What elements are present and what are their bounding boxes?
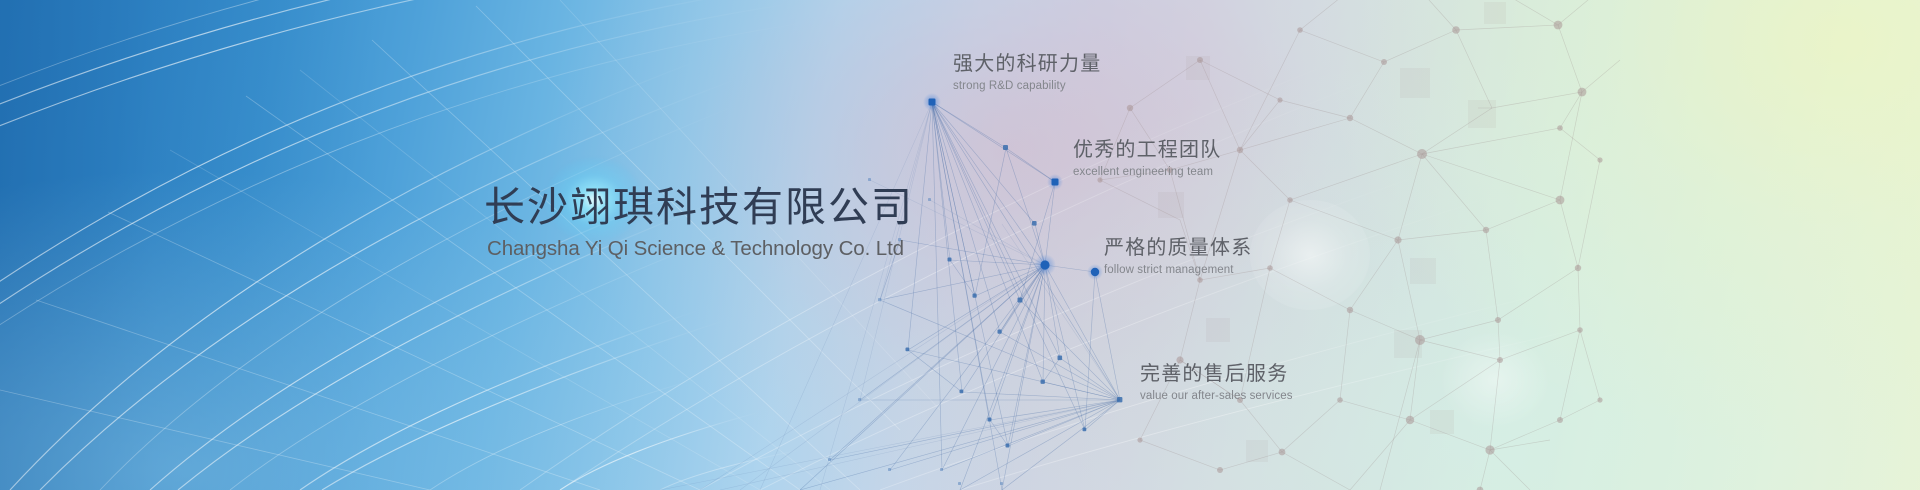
feature-quality-system-label-cn: 严格的质量体系 xyxy=(1104,236,1252,261)
feature-item-rnd: 强大的科研力量 strong R&D capability xyxy=(953,52,1101,92)
feature-rnd-label-cn: 强大的科研力量 xyxy=(953,52,1101,77)
feature-engineering-team-label-cn: 优秀的工程团队 xyxy=(1073,138,1221,163)
feature-after-sales-label-cn: 完善的售后服务 xyxy=(1140,362,1293,387)
feature-item-quality-system: 严格的质量体系 follow strict management xyxy=(1104,236,1252,276)
company-name-chinese: 长沙翊琪科技有限公司 xyxy=(484,182,1044,232)
feature-engineering-team-label-en: excellent engineering team xyxy=(1073,166,1221,178)
feature-after-sales-label-en: value our after-sales services xyxy=(1140,390,1293,402)
feature-quality-system-label-en: follow strict management xyxy=(1104,264,1252,276)
company-hero-banner: 长沙翊琪科技有限公司 Changsha Yi Qi Science & Tech… xyxy=(0,0,1920,490)
feature-item-engineering-team: 优秀的工程团队 excellent engineering team xyxy=(1073,138,1221,178)
feature-rnd-label-en: strong R&D capability xyxy=(953,80,1101,92)
company-title-block: 长沙翊琪科技有限公司 Changsha Yi Qi Science & Tech… xyxy=(484,182,1044,261)
feature-item-after-sales: 完善的售后服务 value our after-sales services xyxy=(1140,362,1293,402)
company-name-english: Changsha Yi Qi Science & Technology Co. … xyxy=(487,237,1044,261)
